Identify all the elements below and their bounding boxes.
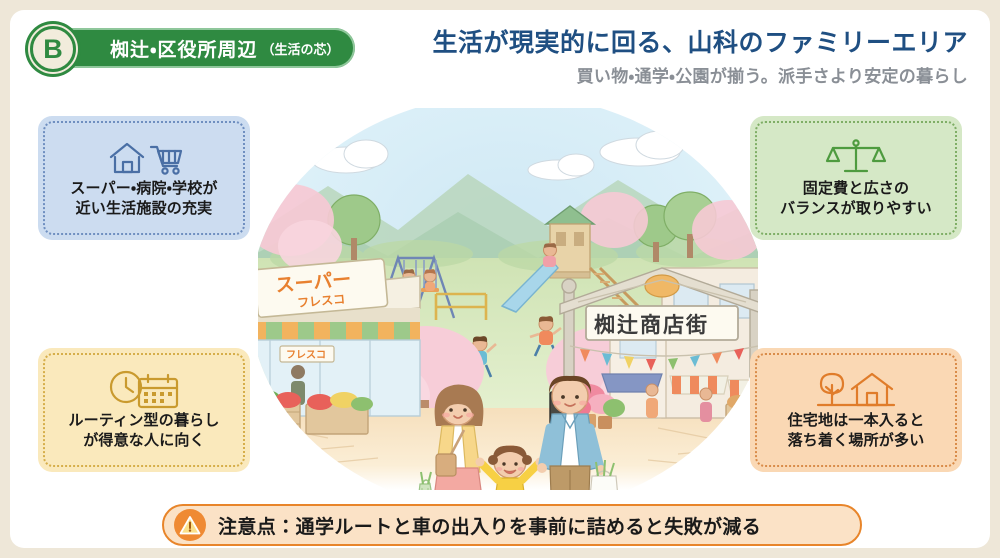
feature-card-text: ルーティン型の暮らし が得意な人に向く [68,411,219,452]
feature-card-text: 住宅地は一本入ると 落ち着く場所が多い [788,411,925,452]
page-title: 生活が現実的に回る、山科のファミリーエリア [432,28,968,58]
street-shopper [700,388,712,422]
street-shopper [646,384,658,418]
warning-banner: 注意点：通学ルートと車の出入りを事前に詰めると失敗が減る [162,504,862,546]
page-subtitle: 買い物・通学・公園が揃う。派手さより安定の暮らし [432,62,968,87]
feature-card-text: 固定費と広さの バランスが取りやすい [780,179,932,220]
child-on-swing [424,269,436,291]
page-sheet: 椥辻・区役所周辺 （生活の芯） B 生活が現実的に回る、山科のファミリーエリア … [10,10,990,548]
area-badge-label: 椥辻・区役所周辺 [110,35,257,62]
supermarket-awning [258,322,420,340]
town-scene-illustration: スーパー フレスコ [258,108,758,490]
warning-banner-text: 注意点：通学ルートと車の出入りを事前に詰めると失敗が減る [218,512,761,539]
produce-stall [258,390,301,436]
area-badge-letter-circle: B [30,26,76,72]
house-cart-icon [105,137,183,177]
feature-card-routine-lifestyle: ルーティン型の暮らし が得意な人に向く [38,348,250,472]
balance-scale-icon [825,137,887,177]
produce-stall [306,392,373,434]
feature-card-living-facilities: スーパー・病院・学校が 近い生活施設の充実 [38,116,250,240]
clock-calendar-icon [107,369,181,409]
supermarket: スーパー フレスコ [258,258,420,436]
area-badge-sublabel: （生活の芯） [261,39,339,58]
warning-triangle-icon [174,509,206,541]
grocery-bag [588,476,620,490]
feature-card-cost-space-balance: 固定費と広さの バランスが取りやすい [750,116,962,240]
area-badge-pill: 椥辻・区役所周辺 （生活の芯） [44,28,355,68]
feature-card-text: スーパー・病院・学校が 近い生活施設の充実 [70,179,217,220]
shopping-street-gate-label: 椥辻商店街 [594,313,709,337]
header-titles: 生活が現実的に回る、山科のファミリーエリア 買い物・通学・公園が揃う。派手さより… [432,28,968,87]
supermarket-window-sign: フレスコ [286,349,326,361]
header: 椥辻・区役所周辺 （生活の芯） B 生活が現実的に回る、山科のファミリーエリア … [10,10,990,96]
area-badge-letter: B [43,36,63,63]
tree-house-icon [816,369,896,409]
feature-card-quiet-residential: 住宅地は一本入ると 落ち着く場所が多い [750,348,962,472]
